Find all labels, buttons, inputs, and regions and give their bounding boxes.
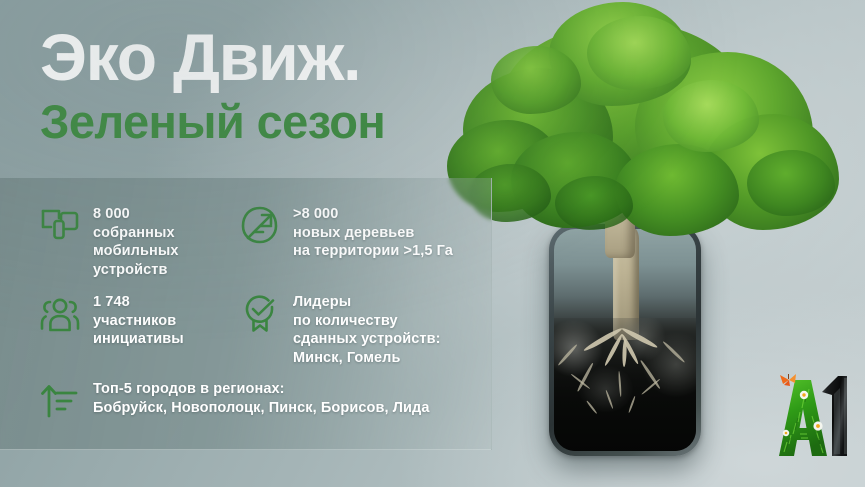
- people-group-icon: [40, 293, 80, 335]
- logo-daisy-1: [800, 391, 808, 399]
- stat-top-cities-text: Топ-5 городов в регионах: Бобруйск, Ново…: [93, 380, 430, 417]
- stat-new-trees-text: >8 000 новых деревьев на территории >1,5…: [293, 205, 453, 261]
- stats-list: 8 000 собранных мобильных устройств 1 74…: [0, 178, 492, 450]
- infographic-canvas: Эко Движ. Зеленый сезон 8 000 собранных …: [0, 0, 865, 487]
- phone-screen: [554, 229, 696, 451]
- stat-leaders-text: Лидеры по количеству сданных устройств: …: [293, 293, 441, 367]
- headline-primary: Эко Движ.: [40, 20, 385, 94]
- stat-leaders: Лидеры по количеству сданных устройств: …: [240, 293, 441, 367]
- devices-icon: [40, 205, 80, 247]
- stat-participants: 1 748 участников инициативы: [40, 293, 184, 349]
- stat-devices-collected: 8 000 собранных мобильных устройств: [40, 205, 179, 279]
- stat-top-cities: Топ-5 городов в регионах: Бобруйск, Ново…: [40, 380, 430, 422]
- logo-butterfly: [780, 374, 796, 386]
- award-check-icon: [240, 293, 280, 335]
- logo-daisy-2: [813, 421, 822, 430]
- soil-layer: [554, 318, 696, 451]
- headline-block: Эко Движ. Зеленый сезон: [40, 20, 385, 150]
- stat-new-trees: >8 000 новых деревьев на территории >1,5…: [240, 205, 453, 261]
- ranking-arrow-icon: [40, 380, 80, 422]
- logo-daisy-3: [783, 430, 789, 436]
- headline-secondary: Зеленый сезон: [40, 94, 385, 150]
- stat-devices-text: 8 000 собранных мобильных устройств: [93, 205, 179, 279]
- stat-participants-text: 1 748 участников инициативы: [93, 293, 184, 349]
- leaf-growth-icon: [240, 205, 280, 247]
- logo-letter-a: [779, 374, 827, 456]
- tree-canopy: [447, 0, 859, 262]
- a1-logo: [748, 364, 852, 468]
- logo-digit-1: [822, 376, 847, 456]
